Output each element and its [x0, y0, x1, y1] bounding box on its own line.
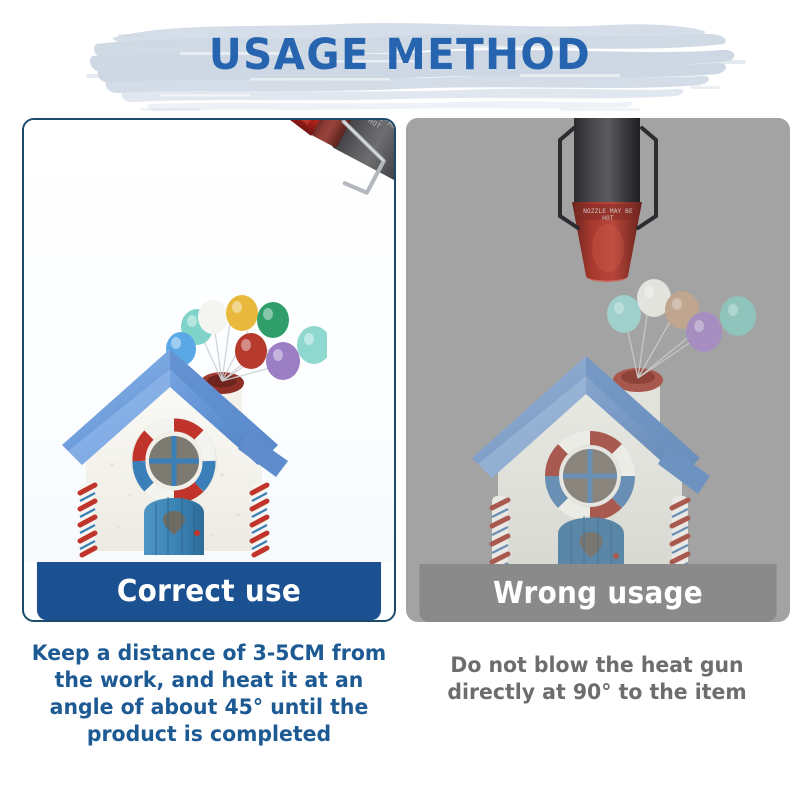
caption-wrong-usage: Wrong usage — [419, 564, 776, 622]
instruction-wrong: Do not blow the heat gun directly at 90°… — [414, 652, 781, 706]
footer-captions: Keep a distance of 3-5CM from the work, … — [0, 640, 800, 800]
comparison-panels: NOZZLE MAY BE HOT — [0, 118, 800, 622]
candy-cane-post-left — [80, 483, 95, 555]
page-title: USAGE METHOD — [24, 34, 776, 77]
title-banner: USAGE METHOD — [0, 8, 800, 112]
infographic-page: USAGE METHOD — [0, 0, 800, 800]
instruction-correct: Keep a distance of 3-5CM from the work, … — [28, 640, 391, 748]
house-ornament-wrong — [458, 256, 758, 564]
photo-correct-use: NOZZLE MAY BE HOT — [24, 120, 394, 562]
candy-cane-post-right — [252, 483, 267, 555]
candy-cane-post-left — [492, 496, 508, 564]
heat-gun-bracket — [550, 124, 666, 244]
heat-gun-correct: NOZZLE MAY BE HOT — [246, 120, 394, 254]
photo-wrong-usage: NOZZLE MAY BE HOT — [406, 118, 790, 564]
balloon-cluster — [607, 279, 756, 352]
panel-wrong-usage[interactable]: NOZZLE MAY BE HOT — [406, 118, 790, 622]
candy-cane-post-right — [672, 496, 688, 564]
caption-correct-use: Correct use — [37, 562, 381, 620]
house-ornament-correct — [52, 265, 327, 562]
panel-correct-use[interactable]: NOZZLE MAY BE HOT — [22, 118, 396, 622]
